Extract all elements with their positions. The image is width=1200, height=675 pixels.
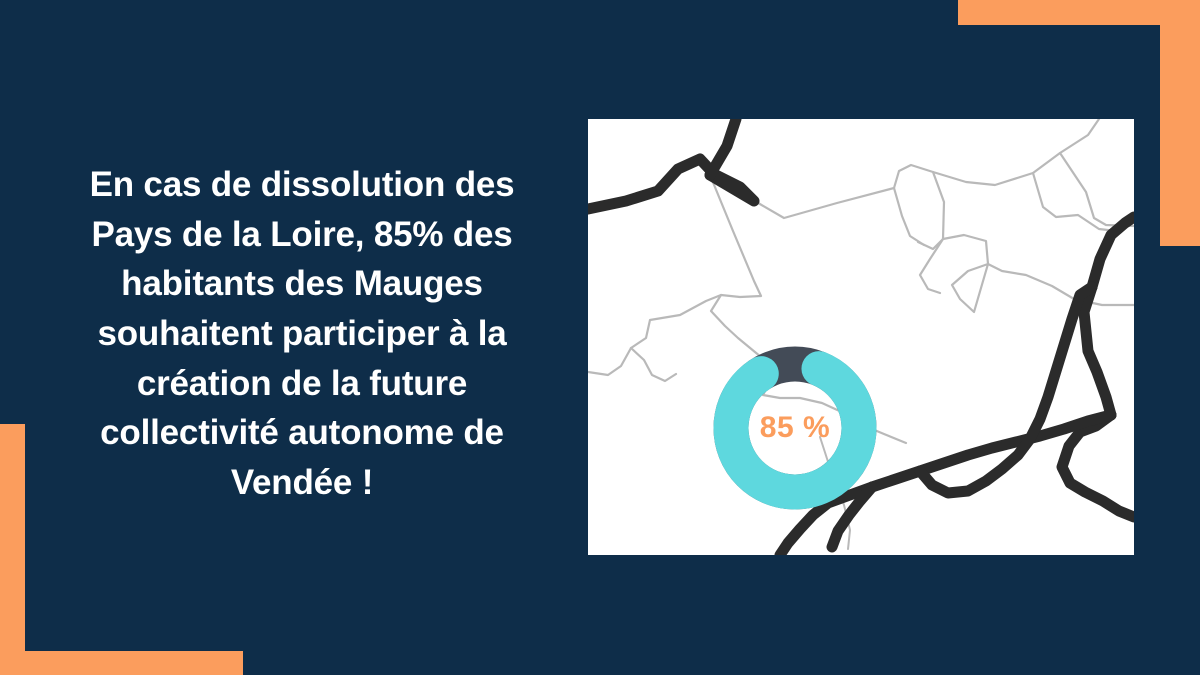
top-right-bracket-vertical-bar [1160, 0, 1200, 246]
bottom-left-bracket-vertical-bar [0, 424, 25, 675]
slide-canvas: En cas de dissolution des Pays de la Loi… [0, 0, 1200, 675]
donut-chart: 85 % [711, 344, 879, 512]
headline-text: En cas de dissolution des Pays de la Loi… [48, 160, 556, 508]
donut-chart-graphic [711, 344, 879, 512]
bottom-left-bracket-horizontal-bar [0, 651, 243, 675]
